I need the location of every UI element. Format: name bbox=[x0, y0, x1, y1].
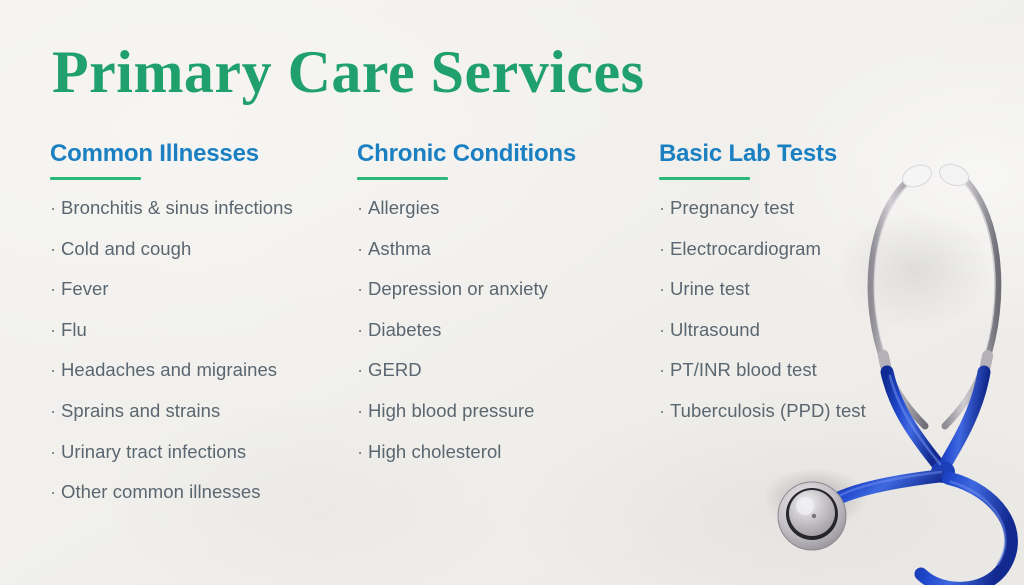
list-item: ·Sprains and strains bbox=[50, 400, 340, 441]
list-item-label: Urine test bbox=[670, 278, 750, 300]
bullet-icon: · bbox=[659, 278, 670, 300]
services-list: ·Pregnancy test·Electrocardiogram·Urine … bbox=[659, 197, 959, 441]
list-item: ·Asthma bbox=[357, 238, 647, 279]
list-item: ·Ultrasound bbox=[659, 319, 959, 360]
bullet-icon: · bbox=[357, 400, 368, 422]
list-item-label: Headaches and migraines bbox=[61, 359, 277, 381]
list-item: ·High blood pressure bbox=[357, 400, 647, 441]
bullet-icon: · bbox=[50, 441, 61, 463]
list-item: ·Headaches and migraines bbox=[50, 359, 340, 400]
list-item: ·Pregnancy test bbox=[659, 197, 959, 238]
bullet-icon: · bbox=[50, 359, 61, 381]
services-column-chronic-conditions: Chronic Conditions ·Allergies·Asthma·Dep… bbox=[357, 140, 647, 481]
bullet-icon: · bbox=[357, 197, 368, 219]
bullet-icon: · bbox=[50, 238, 61, 260]
list-item-label: Asthma bbox=[368, 238, 431, 260]
list-item: ·Allergies bbox=[357, 197, 647, 238]
list-item-label: Flu bbox=[61, 319, 87, 341]
bullet-icon: · bbox=[50, 481, 61, 503]
list-item: ·Flu bbox=[50, 319, 340, 360]
list-item: ·Urinary tract infections bbox=[50, 441, 340, 482]
services-list: ·Bronchitis & sinus infections·Cold and … bbox=[50, 197, 340, 522]
heading-underline-rule bbox=[50, 177, 141, 180]
list-item-label: Electrocardiogram bbox=[670, 238, 821, 260]
list-item: ·PT/INR blood test bbox=[659, 359, 959, 400]
list-item-label: Other common illnesses bbox=[61, 481, 261, 503]
list-item-label: Cold and cough bbox=[61, 238, 191, 260]
bullet-icon: · bbox=[50, 197, 61, 219]
list-item: ·Other common illnesses bbox=[50, 481, 340, 522]
list-item: ·Diabetes bbox=[357, 319, 647, 360]
list-item: ·Tuberculosis (PPD) test bbox=[659, 400, 959, 441]
column-heading: Chronic Conditions bbox=[357, 140, 647, 168]
services-column-basic-lab-tests: Basic Lab Tests ·Pregnancy test·Electroc… bbox=[659, 140, 959, 441]
bullet-icon: · bbox=[659, 238, 670, 260]
list-item: ·Electrocardiogram bbox=[659, 238, 959, 279]
list-item-label: Tuberculosis (PPD) test bbox=[670, 400, 866, 422]
list-item-label: Sprains and strains bbox=[61, 400, 220, 422]
list-item-label: Diabetes bbox=[368, 319, 441, 341]
services-column-common-illnesses: Common Illnesses ·Bronchitis & sinus inf… bbox=[50, 140, 340, 522]
list-item-label: Urinary tract infections bbox=[61, 441, 246, 463]
list-item-label: Pregnancy test bbox=[670, 197, 794, 219]
list-item: ·Fever bbox=[50, 278, 340, 319]
list-item-label: High blood pressure bbox=[368, 400, 535, 422]
list-item-label: Ultrasound bbox=[670, 319, 760, 341]
bullet-icon: · bbox=[50, 278, 61, 300]
bullet-icon: · bbox=[50, 400, 61, 422]
list-item: ·Depression or anxiety bbox=[357, 278, 647, 319]
bullet-icon: · bbox=[357, 278, 368, 300]
bullet-icon: · bbox=[357, 238, 368, 260]
list-item: ·Bronchitis & sinus infections bbox=[50, 197, 340, 238]
column-heading: Basic Lab Tests bbox=[659, 140, 959, 168]
list-item-label: Fever bbox=[61, 278, 109, 300]
list-item-label: GERD bbox=[368, 359, 422, 381]
list-item-label: Depression or anxiety bbox=[368, 278, 548, 300]
list-item-label: PT/INR blood test bbox=[670, 359, 817, 381]
page-title: Primary Care Services bbox=[52, 41, 644, 104]
bullet-icon: · bbox=[357, 319, 368, 341]
bullet-icon: · bbox=[357, 441, 368, 463]
list-item: ·Urine test bbox=[659, 278, 959, 319]
bullet-icon: · bbox=[50, 319, 61, 341]
bullet-icon: · bbox=[659, 359, 670, 381]
list-item-label: Bronchitis & sinus infections bbox=[61, 197, 293, 219]
services-list: ·Allergies·Asthma·Depression or anxiety·… bbox=[357, 197, 647, 481]
list-item: ·High cholesterol bbox=[357, 441, 647, 482]
bullet-icon: · bbox=[659, 400, 670, 422]
slide-canvas: Primary Care Services Common Illnesses ·… bbox=[0, 0, 1024, 585]
column-heading: Common Illnesses bbox=[50, 140, 340, 168]
list-item: ·Cold and cough bbox=[50, 238, 340, 279]
heading-underline-rule bbox=[357, 177, 448, 180]
list-item-label: High cholesterol bbox=[368, 441, 501, 463]
bullet-icon: · bbox=[357, 359, 368, 381]
list-item-label: Allergies bbox=[368, 197, 439, 219]
heading-underline-rule bbox=[659, 177, 750, 180]
list-item: ·GERD bbox=[357, 359, 647, 400]
bullet-icon: · bbox=[659, 197, 670, 219]
bullet-icon: · bbox=[659, 319, 670, 341]
